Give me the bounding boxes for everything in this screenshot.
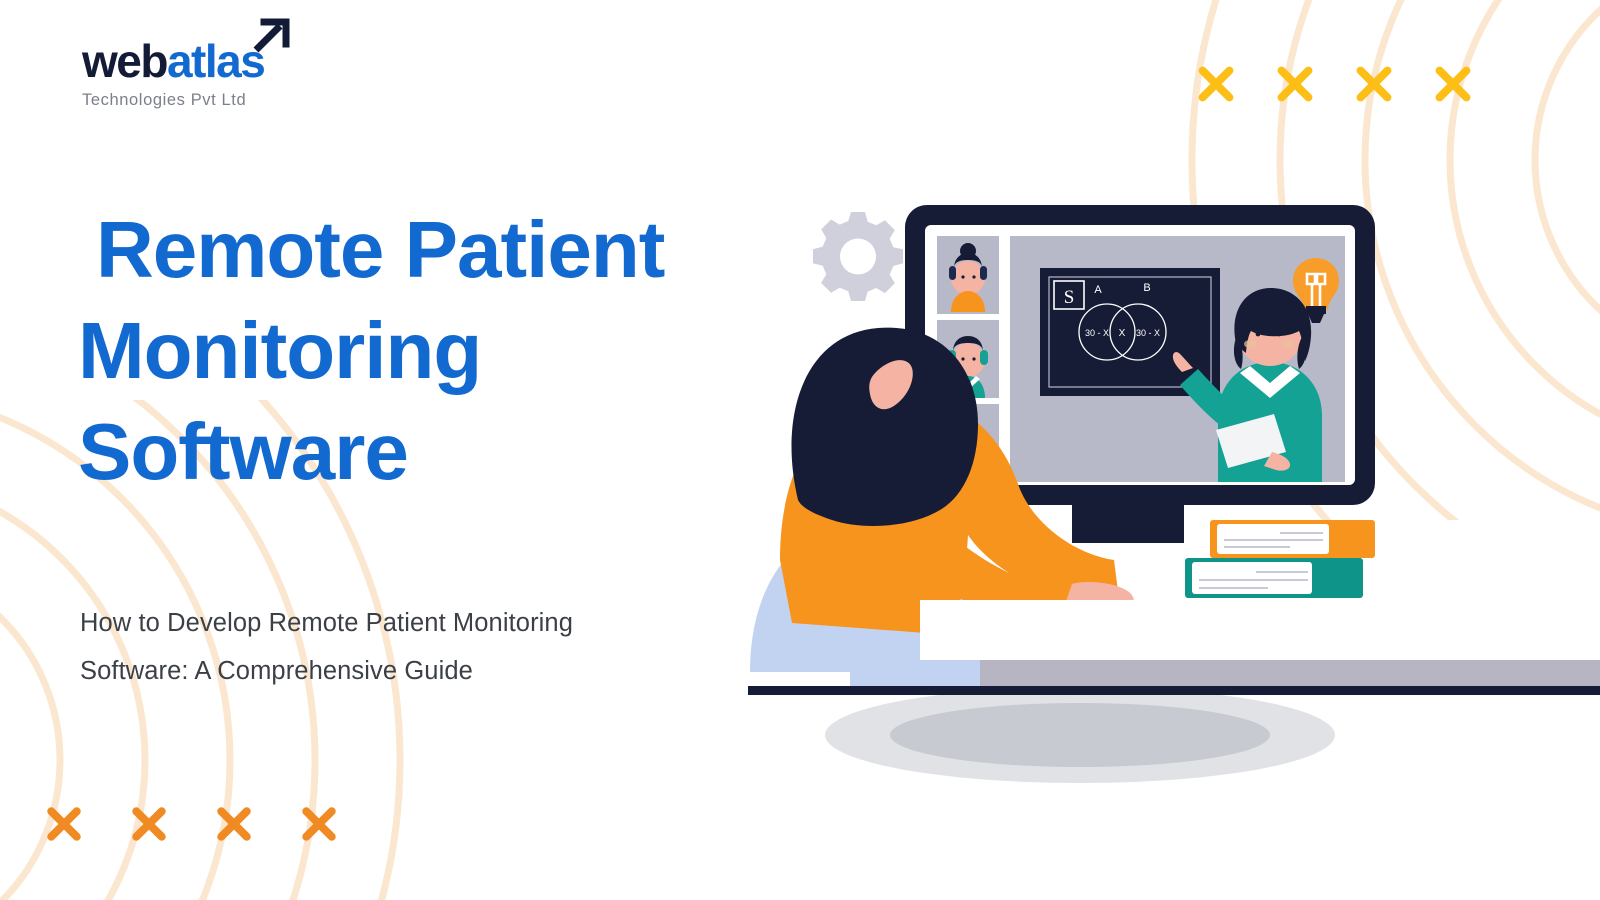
desk-edge (748, 686, 1600, 695)
x-marks-bottom-left (40, 800, 343, 848)
gear-icon (813, 212, 903, 301)
venn-value-left: 30 - X (1085, 328, 1109, 338)
x-mark-icon (210, 800, 258, 848)
viewer-hair (791, 328, 978, 526)
book-teal (1185, 558, 1363, 598)
venn-value-middle: X (1119, 328, 1126, 339)
remote-video-conference-illustration: S A B 30 - X X 30 - X (720, 0, 1600, 900)
logo-text-web: web (82, 38, 167, 84)
x-mark-icon (295, 800, 343, 848)
x-mark-icon (40, 800, 88, 848)
desk-surface (920, 600, 1600, 660)
venn-label-a: A (1094, 284, 1102, 296)
subtitle-line-1: How to Develop Remote Patient Monitoring (80, 600, 720, 648)
logo-tagline: Technologies Pvt Ltd (82, 91, 264, 110)
banner-canvas: webatlas Technologies Pvt Ltd Remote Pat… (0, 0, 1600, 900)
desk-front (970, 660, 1600, 688)
book-orange (1210, 520, 1375, 558)
venn-value-right: 30 - X (1136, 328, 1160, 338)
venn-label-b: B (1143, 282, 1150, 294)
x-mark-icon (125, 800, 173, 848)
page-subtitle: How to Develop Remote Patient Monitoring… (80, 600, 720, 696)
participant-thumbnail-1[interactable] (937, 236, 999, 314)
subtitle-line-2: Software: A Comprehensive Guide (80, 648, 720, 696)
venn-set-label: S (1064, 287, 1075, 308)
arrow-up-right-icon (250, 16, 292, 56)
brand-logo[interactable]: webatlas Technologies Pvt Ltd (82, 38, 264, 110)
